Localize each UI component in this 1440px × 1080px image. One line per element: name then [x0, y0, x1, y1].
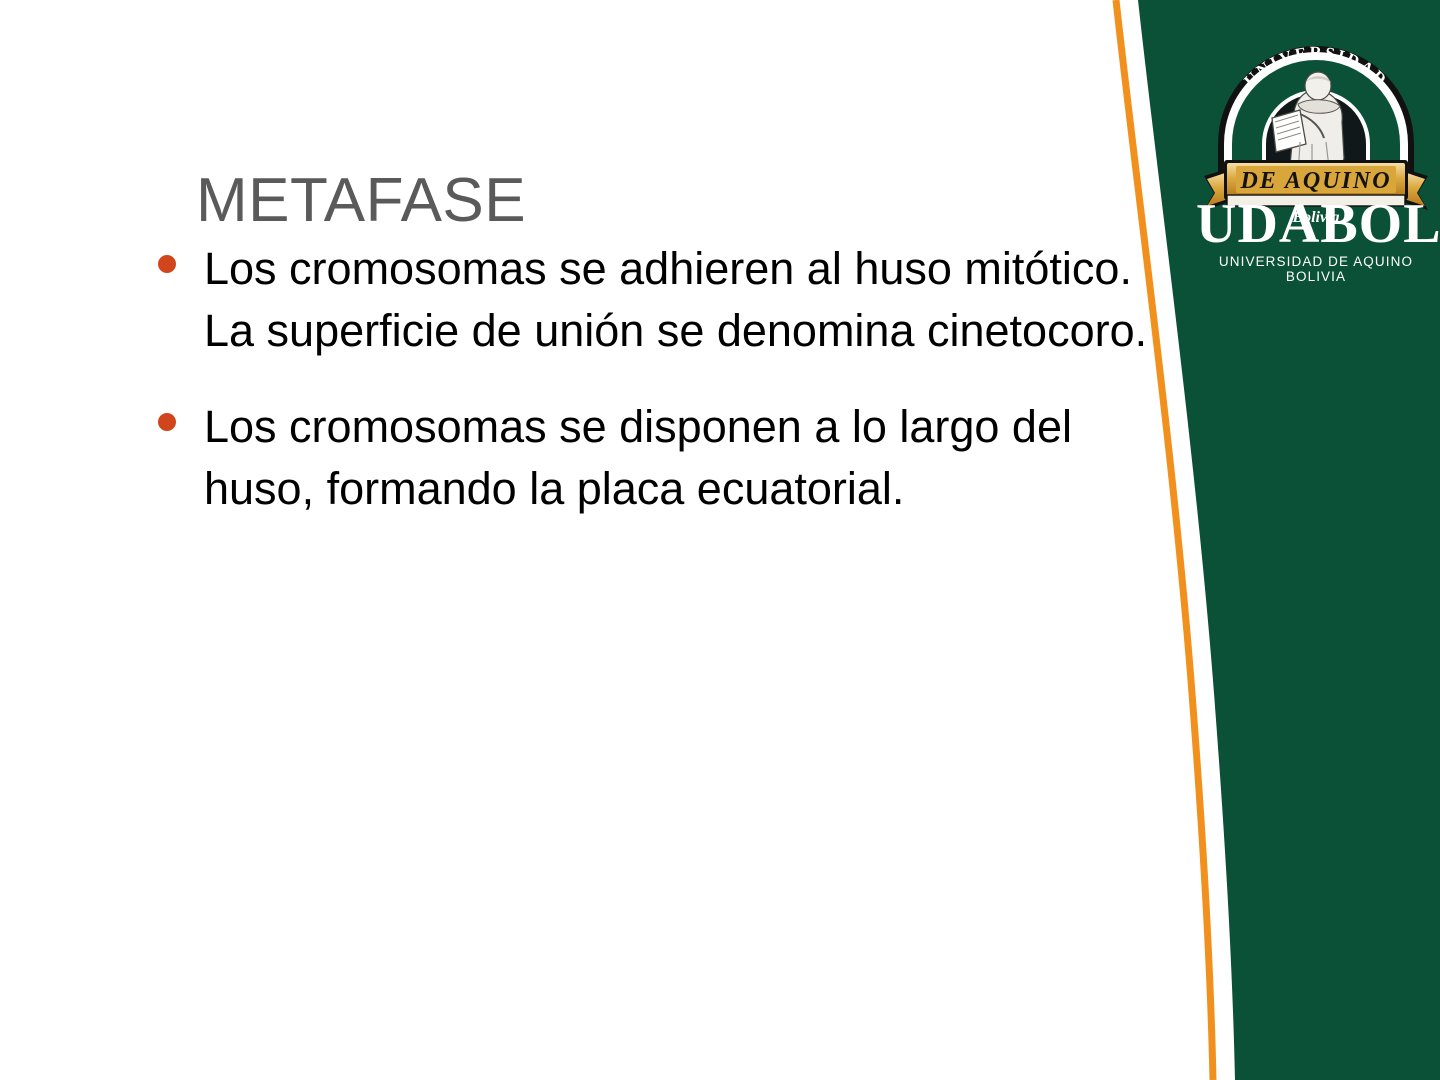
logo-book-icon	[1272, 110, 1306, 152]
udabol-wordmark: UDABOL	[1196, 196, 1436, 252]
bullet-dot-icon	[158, 255, 176, 273]
slide: UNIVERSIDAD	[0, 0, 1440, 1080]
list-item: Los cromosomas se adhieren al huso mitót…	[150, 238, 1150, 362]
udabol-tagline: UNIVERSIDAD DE AQUINO BOLIVIA	[1196, 254, 1436, 284]
logo-banner-text: DE AQUINO	[1239, 168, 1391, 194]
page-title: METAFASE	[196, 168, 1096, 233]
list-item: Los cromosomas se disponen a lo largo de…	[150, 396, 1150, 520]
bullet-dot-icon	[158, 413, 176, 431]
list-item-text: Los cromosomas se disponen a lo largo de…	[204, 396, 1150, 520]
udabol-wordmark-block: UDABOL UNIVERSIDAD DE AQUINO BOLIVIA	[1196, 196, 1436, 284]
list-item-text: Los cromosomas se adhieren al huso mitót…	[204, 238, 1150, 362]
bullet-list: Los cromosomas se adhieren al huso mitót…	[150, 238, 1150, 520]
